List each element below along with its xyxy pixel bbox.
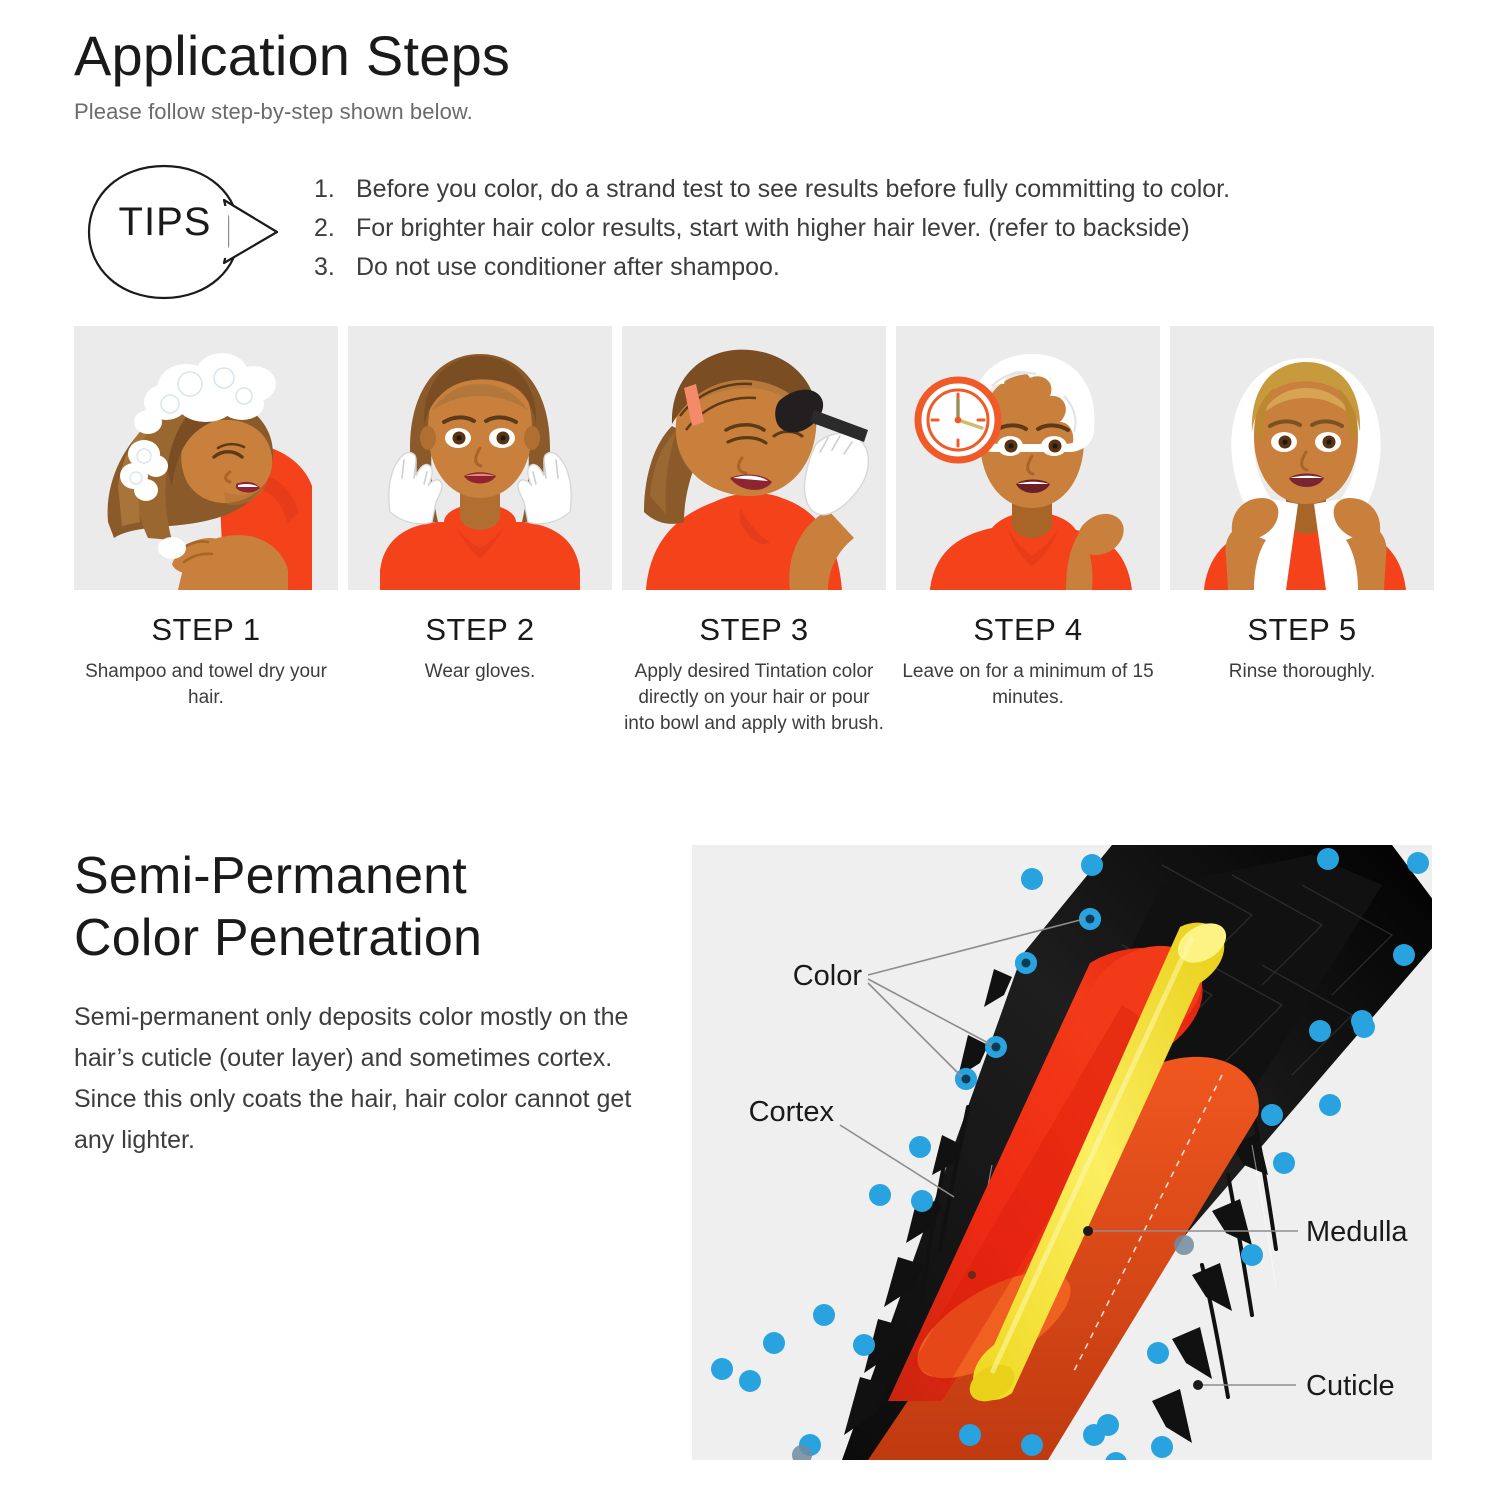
penetration-heading-line1: Semi-Permanent	[74, 847, 467, 905]
step-4-illustration	[896, 326, 1160, 590]
step-2-illustration	[348, 326, 612, 590]
woman-shampooing-hair-icon	[74, 326, 338, 590]
tips-label: TIPS	[98, 200, 232, 245]
step-3-illustration	[622, 326, 886, 590]
step-card-5: STEP 5 Rinse thoroughly.	[1170, 326, 1434, 737]
cortex-anchor-dot	[968, 1271, 976, 1279]
infographic-page: Application Steps Please follow step-by-…	[0, 0, 1500, 1500]
step-card-4: STEP 4 Leave on for a minimum of 15 minu…	[896, 326, 1160, 737]
label-medulla: Medulla	[1306, 1216, 1408, 1248]
penetration-heading: Semi-Permanent Color Penetration	[74, 845, 634, 969]
tips-item-text: For brighter hair color results, start w…	[356, 214, 1190, 242]
step-5-caption: Rinse thoroughly.	[1170, 659, 1434, 685]
woman-wearing-gloves-icon	[348, 326, 612, 590]
hair-cross-section-diagram: Color Cortex Medulla Cuticle	[692, 845, 1432, 1460]
woman-with-shower-cap-and-clock-icon	[896, 326, 1160, 590]
step-4-caption: Leave on for a minimum of 15 minutes.	[896, 659, 1160, 711]
step-3-title: STEP 3	[622, 612, 886, 648]
step-1-caption: Shampoo and towel dry your hair.	[74, 659, 338, 711]
tips-item-text: Before you color, do a strand test to se…	[356, 175, 1230, 203]
penetration-text-block: Semi-Permanent Color Penetration Semi-pe…	[74, 845, 634, 1161]
label-cuticle: Cuticle	[1306, 1370, 1395, 1402]
tips-item-number: 3.	[314, 248, 348, 287]
tips-speech-bubble: TIPS	[84, 162, 284, 302]
penetration-body: Semi-permanent only deposits color mostl…	[74, 997, 634, 1161]
tips-item: 2. For brighter hair color results, star…	[314, 209, 1444, 248]
steps-row: STEP 1 Shampoo and towel dry your hair.	[74, 326, 1434, 737]
tips-item-text: Do not use conditioner after shampoo.	[356, 253, 780, 281]
cuticle-anchor-dot	[1193, 1380, 1203, 1390]
page-title: Application Steps	[74, 24, 1274, 88]
step-1-illustration	[74, 326, 338, 590]
tips-item: 1. Before you color, do a strand test to…	[314, 170, 1444, 209]
step-card-1: STEP 1 Shampoo and towel dry your hair.	[74, 326, 338, 737]
step-2-caption: Wear gloves.	[348, 659, 612, 685]
tips-list: 1. Before you color, do a strand test to…	[314, 170, 1444, 287]
label-color: Color	[793, 960, 863, 992]
step-2-title: STEP 2	[348, 612, 612, 648]
tips-item: 3. Do not use conditioner after shampoo.	[314, 248, 1444, 287]
tips-section: TIPS 1. Before you color, do a strand te…	[74, 160, 1434, 310]
tips-item-number: 1.	[314, 170, 348, 209]
step-card-3: STEP 3 Apply desired Tintation color dir…	[622, 326, 886, 737]
step-1-title: STEP 1	[74, 612, 338, 648]
tips-item-number: 2.	[314, 209, 348, 248]
header-block: Application Steps Please follow step-by-…	[74, 24, 1274, 126]
woman-with-towel-rinsing-icon	[1170, 326, 1434, 590]
hair-strand-diagram-icon: Color Cortex Medulla Cuticle	[692, 845, 1432, 1460]
step-3-caption: Apply desired Tintation color directly o…	[622, 659, 886, 737]
step-4-title: STEP 4	[896, 612, 1160, 648]
page-subtitle: Please follow step-by-step shown below.	[74, 98, 1274, 126]
step-5-title: STEP 5	[1170, 612, 1434, 648]
step-card-2: STEP 2 Wear gloves.	[348, 326, 612, 737]
medulla-anchor-dot	[1083, 1226, 1093, 1236]
step-5-illustration	[1170, 326, 1434, 590]
label-cortex: Cortex	[749, 1096, 835, 1128]
penetration-heading-line2: Color Penetration	[74, 909, 482, 967]
woman-applying-color-with-brush-icon	[622, 326, 886, 590]
